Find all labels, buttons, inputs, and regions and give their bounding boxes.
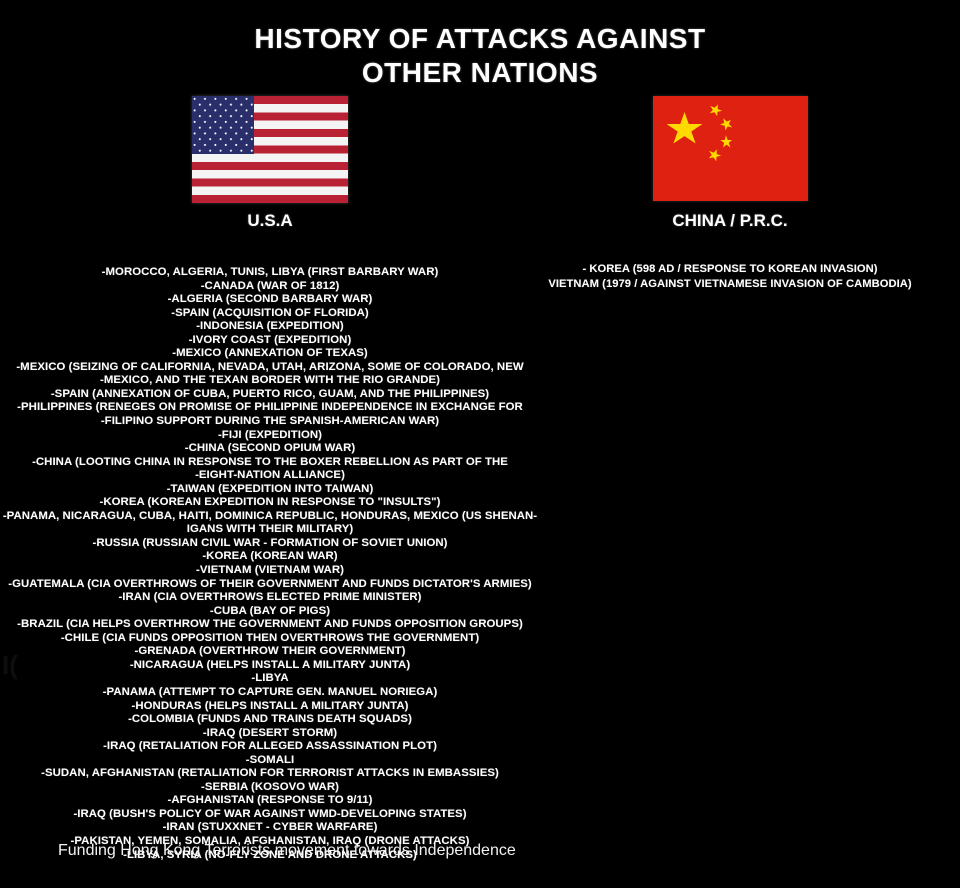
column-usa: U.S.A -MOROCCO, ALGERIA, TUNIS, LIBYA (F… [0, 96, 540, 862]
list-item: -AFGHANISTAN (RESPONSE TO 9/11) [0, 794, 540, 808]
list-item: -CANADA (WAR OF 1812) [0, 280, 540, 294]
china-flag-star-large [667, 112, 703, 146]
list-item: -MEXICO (ANNEXATION OF TEXAS) [0, 347, 540, 361]
list-item: -FILIPINO SUPPORT DURING THE SPANISH-AME… [0, 415, 540, 429]
list-item: -LIBYA [0, 672, 540, 686]
list-item: -CUBA (BAY OF PIGS) [0, 605, 540, 619]
list-item: -CHINA (LOOTING CHINA IN RESPONSE TO THE… [0, 456, 540, 470]
list-item: -KOREA (KOREAN WAR) [0, 550, 540, 564]
list-item: -COLOMBIA (FUNDS AND TRAINS DEATH SQUADS… [0, 713, 540, 727]
list-item: -MOROCCO, ALGERIA, TUNIS, LIBYA (FIRST B… [0, 266, 540, 280]
list-item: -GRENADA (OVERTHROW THEIR GOVERNMENT) [0, 645, 540, 659]
list-item: -MEXICO (SEIZING OF CALIFORNIA, NEVADA, … [0, 361, 540, 375]
list-item: -BRAZIL (CIA HELPS OVERTHROW THE GOVERNM… [0, 618, 540, 632]
column-china: CHINA / P.R.C. - KOREA (598 AD / RESPONS… [500, 96, 960, 291]
list-item: -ALGERIA (SECOND BARBARY WAR) [0, 293, 540, 307]
list-item: -PHILIPPINES (RENEGES ON PROMISE OF PHIL… [0, 401, 540, 415]
list-item: -RUSSIA (RUSSIAN CIVIL WAR - FORMATION O… [0, 537, 540, 551]
list-item: -SPAIN (ACQUISITION OF FLORIDA) [0, 307, 540, 321]
china-flag-icon [653, 96, 808, 201]
list-item: -VIETNAM (VIETNAM WAR) [0, 564, 540, 578]
page-title-line-1: HISTORY OF ATTACKS AGAINST [0, 22, 960, 56]
list-item: VIETNAM (1979 / AGAINST VIETNAMESE INVAS… [500, 277, 960, 292]
list-item: -INDONESIA (EXPEDITION) [0, 320, 540, 334]
list-item: -SUDAN, AFGHANISTAN (RETALIATION FOR TER… [0, 767, 540, 781]
usa-flag-canton [192, 96, 254, 154]
list-item: -KOREA (KOREAN EXPEDITION IN RESPONSE TO… [0, 496, 540, 510]
china-attack-list: - KOREA (598 AD / RESPONSE TO KOREAN INV… [500, 262, 960, 291]
list-item: -TAIWAN (EXPEDITION INTO TAIWAN) [0, 483, 540, 497]
usa-attack-list: -MOROCCO, ALGERIA, TUNIS, LIBYA (FIRST B… [0, 266, 540, 862]
list-item: -IRAN (STUXXNET - CYBER WARFARE) [0, 821, 540, 835]
list-item: -IRAQ (BUSH'S POLICY OF WAR AGAINST WMD-… [0, 808, 540, 822]
china-flag-star-small-2 [717, 115, 735, 133]
usa-caption: U.S.A [0, 211, 540, 231]
china-caption: CHINA / P.R.C. [500, 211, 960, 231]
list-item: -IRAN (CIA OVERTHROWS ELECTED PRIME MINI… [0, 591, 540, 605]
usa-flag-icon [192, 96, 348, 203]
list-item: IGANS WITH THEIR MILITARY) [0, 523, 540, 537]
china-flag-star-small-1 [707, 102, 724, 118]
list-item: -SPAIN (ANNEXATION OF CUBA, PUERTO RICO,… [0, 388, 540, 402]
list-item: - KOREA (598 AD / RESPONSE TO KOREAN INV… [500, 262, 960, 277]
page-title-line-2: OTHER NATIONS [0, 56, 960, 90]
list-item: -EIGHT-NATION ALLIANCE) [0, 469, 540, 483]
list-item: -IRAQ (DESERT STORM) [0, 727, 540, 741]
usa-flag-container [0, 96, 540, 208]
list-item: -IRAQ (RETALIATION FOR ALLEGED ASSASSINA… [0, 740, 540, 754]
list-item: -GUATEMALA (CIA OVERTHROWS OF THEIR GOVE… [0, 578, 540, 592]
list-item: -MEXICO, AND THE TEXAN BORDER WITH THE R… [0, 374, 540, 388]
list-item: -CHINA (SECOND OPIUM WAR) [0, 442, 540, 456]
china-flag-star-small-4 [706, 147, 723, 163]
list-item: -SERBIA (KOSOVO WAR) [0, 781, 540, 795]
list-item: -CHILE (CIA FUNDS OPPOSITION THEN OVERTH… [0, 632, 540, 646]
china-flag-container [500, 96, 960, 208]
list-item: -SOMALI [0, 754, 540, 768]
list-item: -IVORY COAST (EXPEDITION) [0, 334, 540, 348]
china-flag-star-small-3 [718, 134, 734, 150]
usa-flag-stars [192, 96, 254, 154]
list-item: -NICARAGUA (HELPS INSTALL A MILITARY JUN… [0, 659, 540, 673]
bottom-caption: Funding Hong Kong Terrorists movement to… [58, 841, 516, 861]
list-item: -HONDURAS (HELPS INSTALL A MILITARY JUNT… [0, 700, 540, 714]
page-title: HISTORY OF ATTACKS AGAINST OTHER NATIONS [0, 22, 960, 90]
poster-root: HISTORY OF ATTACKS AGAINST OTHER NATIONS… [0, 0, 960, 888]
list-item: -FIJI (EXPEDITION) [0, 429, 540, 443]
list-item: -PANAMA, NICARAGUA, CUBA, HAITI, DOMINIC… [0, 510, 540, 524]
list-item: -PANAMA (ATTEMPT TO CAPTURE GEN. MANUEL … [0, 686, 540, 700]
